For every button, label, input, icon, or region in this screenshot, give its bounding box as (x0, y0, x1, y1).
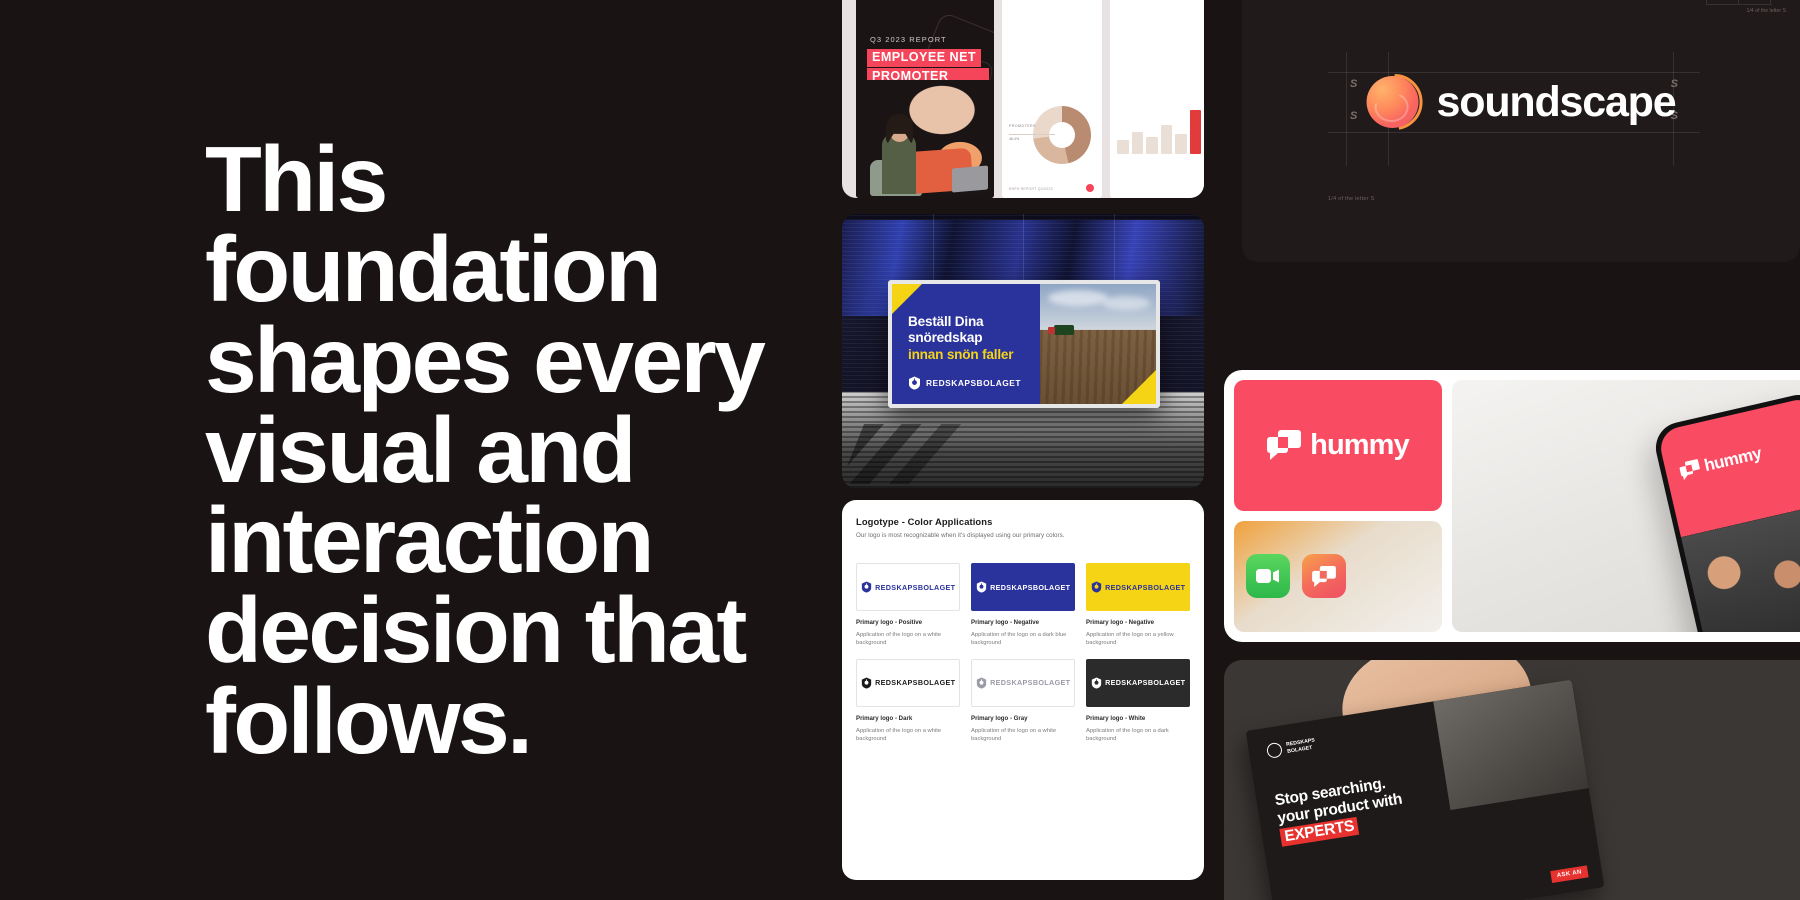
tractor-shape (1054, 325, 1074, 335)
nps-donut-chart: PROMOTERS 46.4% (1009, 106, 1095, 172)
logotype-wordmark: REDSKAPSBOLAGET (1105, 583, 1185, 592)
card-nps-report[interactable]: Q3 2023 REPORT EMPLOYEE NET PROMOTER SCO… (842, 0, 1204, 198)
redskapsbolaget-logo: REDSKAPSBOLAGET (1091, 581, 1186, 593)
hummy-chat-icon (1267, 430, 1301, 460)
gallery-column-center: Q3 2023 REPORT EMPLOYEE NET PROMOTER SCO… (842, 0, 1204, 900)
shield-icon (976, 677, 987, 689)
page-marker-dot (1086, 184, 1094, 192)
soundscape-box-caption: 1/4 of the letter S (1746, 8, 1786, 14)
logotype-name: Primary logo - Positive (856, 619, 960, 626)
hummy-app-icon-row (1234, 521, 1442, 632)
redskapsbolaget-logo: REDSKAPSBOLAGET (861, 677, 956, 689)
logotype-name: Primary logo - Negative (971, 619, 1075, 626)
logotype-swatch: REDSKAPSBOLAGET (971, 563, 1075, 611)
page-title: This foundation shapes every visual and … (205, 134, 815, 765)
donut-ring (1033, 106, 1091, 164)
hummy-wordmark: hummy (1310, 429, 1409, 462)
flyer-brand: REDSKAPS BOLAGET (1286, 737, 1317, 755)
billboard-headline-2: snöredskap (908, 330, 1040, 346)
logotype-wordmark: REDSKAPSBOLAGET (875, 583, 955, 592)
shield-icon (1091, 677, 1102, 689)
logotype-swatch: REDSKAPSBOLAGET (856, 563, 960, 611)
flyer-photo (1433, 679, 1588, 810)
nps-detail-page (1110, 0, 1204, 198)
logotype-description: Application of the logo on a dark backgr… (1086, 727, 1190, 744)
redskapsbolaget-logo: REDSKAPSBOLAGET (1091, 677, 1186, 689)
phone-wordmark: hummy (1702, 444, 1763, 477)
billboard-text-panel: Beställ Dina snöredskap innan snön falle… (892, 284, 1040, 404)
shield-icon (908, 376, 921, 390)
hummy-icon[interactable] (1302, 554, 1346, 598)
card-logotype-applications[interactable]: Logotype - Color Applications Our logo i… (842, 500, 1204, 880)
billboard-frame: Beställ Dina snöredskap innan snön falle… (888, 280, 1160, 408)
cloud-shape (1102, 296, 1150, 310)
logotype-description: Application of the logo on a white backg… (856, 727, 960, 744)
headline-section: This foundation shapes every visual and … (0, 0, 840, 900)
shield-icon (1091, 581, 1102, 593)
billboard-artwork: Beställ Dina snöredskap innan snön falle… (892, 284, 1156, 404)
redskapsbolaget-logo: REDSKAPSBOLAGET (976, 677, 1071, 689)
shield-icon (976, 581, 987, 593)
nps-title-line-1: EMPLOYEE NET (867, 49, 981, 67)
billboard-logo: REDSKAPSBOLAGET (908, 376, 1021, 390)
billboard-photo-panel (1040, 284, 1156, 404)
guide-letter-s: S (1350, 78, 1357, 90)
facetime-icon[interactable] (1246, 554, 1290, 598)
logotype-name: Primary logo - White (1086, 715, 1190, 722)
logotype-cell[interactable]: REDSKAPSBOLAGETPrimary logo - DarkApplic… (856, 659, 960, 744)
logotype-swatch: REDSKAPSBOLAGET (856, 659, 960, 707)
logotype-swatch: REDSKAPSBOLAGET (1086, 563, 1190, 611)
gallery-column-right: S S S S S S 1/4 of the letter S soundsca… (1224, 0, 1800, 900)
logotype-description: Application of the logo on a dark blue b… (971, 631, 1075, 648)
redskapsbolaget-logo: REDSKAPSBOLAGET (976, 581, 1071, 593)
card-flyer-mockup[interactable]: REDSKAPS BOLAGET Stop searching. your pr… (1224, 660, 1800, 900)
nps-kicker: Q3 2023 REPORT (870, 35, 947, 44)
donut-leader-line (1009, 134, 1055, 135)
soundscape-wordmark: soundscape (1437, 78, 1676, 127)
soundscape-grid-caption: 1/4 of the letter S (1328, 196, 1374, 202)
billboard-headline-3: innan snön faller (908, 347, 1040, 363)
laptop-shape (952, 165, 988, 192)
flyer-artwork: REDSKAPS BOLAGET Stop searching. your pr… (1246, 679, 1605, 900)
billboard-brand: REDSKAPSBOLAGET (926, 378, 1021, 388)
card-soundscape-logo[interactable]: S S S S S S 1/4 of the letter S soundsca… (1242, 0, 1800, 262)
logotype-title: Logotype - Color Applications (856, 516, 1190, 527)
nps-bar-chart (1117, 108, 1201, 168)
logotype-swatch: REDSKAPSBOLAGET (1086, 659, 1190, 707)
logotype-name: Primary logo - Dark (856, 715, 960, 722)
nps-definitions-page: Promoters: Passive or Neutral: Detractor… (1002, 0, 1102, 198)
cloud-shape (1048, 290, 1108, 306)
flyer-badge: ASK AN (1550, 865, 1589, 883)
logotype-wordmark: REDSKAPSBOLAGET (1105, 678, 1185, 687)
construction-guides: S S S S S (1242, 0, 1800, 262)
logotype-swatch: REDSKAPSBOLAGET (971, 659, 1075, 707)
card-billboard-mockup[interactable]: Beställ Dina snöredskap innan snön falle… (842, 214, 1204, 488)
logotype-description: Application of the logo on a white backg… (856, 631, 960, 648)
hummy-phone-mockup: hummy (1452, 380, 1800, 632)
logotype-cell[interactable]: REDSKAPSBOLAGETPrimary logo - PositiveAp… (856, 563, 960, 648)
shield-icon (861, 677, 872, 689)
yellow-corner-accent (1122, 370, 1156, 404)
phone-screen: hummy (1657, 396, 1800, 632)
nps-cover-page: Q3 2023 REPORT EMPLOYEE NET PROMOTER SCO… (856, 0, 994, 198)
yellow-corner-accent (892, 284, 922, 314)
logotype-wordmark: REDSKAPSBOLAGET (875, 678, 955, 687)
logotype-description: Application of the logo on a white backg… (971, 727, 1075, 744)
soundscape-logo-icon (1367, 74, 1423, 130)
logotype-subtitle: Our logo is most recognizable when it's … (856, 532, 1190, 539)
circle-mark-icon (1266, 742, 1283, 759)
cast-shadow (842, 424, 1114, 484)
logotype-cell[interactable]: REDSKAPSBOLAGETPrimary logo - WhiteAppli… (1086, 659, 1190, 744)
redskapsbolaget-logo: REDSKAPSBOLAGET (861, 581, 956, 593)
donut-value: 46.4% (1009, 137, 1019, 141)
hummy-left-column: hummy (1234, 380, 1442, 632)
logotype-cell[interactable]: REDSKAPSBOLAGETPrimary logo - NegativeAp… (1086, 563, 1190, 648)
logotype-wordmark: REDSKAPSBOLAGET (990, 678, 1070, 687)
logotype-cell[interactable]: REDSKAPSBOLAGETPrimary logo - GrayApplic… (971, 659, 1075, 744)
soundscape-lockup: soundscape (1367, 74, 1676, 130)
guide-letter-s: S (1350, 110, 1357, 122)
logotype-cell[interactable]: REDSKAPSBOLAGETPrimary logo - NegativeAp… (971, 563, 1075, 648)
nps-cover-photo (856, 80, 994, 198)
phone-device: hummy (1651, 390, 1800, 632)
nps-sheet-row: Q3 2023 REPORT EMPLOYEE NET PROMOTER SCO… (842, 0, 1204, 198)
shield-icon (861, 581, 872, 593)
hummy-logo-tile: hummy (1234, 380, 1442, 511)
donut-label: PROMOTERS (1009, 124, 1036, 128)
phone-hummy-lockup: hummy (1678, 444, 1763, 482)
logotype-wordmark: REDSKAPSBOLAGET (990, 583, 1070, 592)
logotype-grid: REDSKAPSBOLAGETPrimary logo - PositiveAp… (856, 563, 1190, 744)
bar-row (1117, 108, 1201, 154)
phone-photo-content (1681, 501, 1800, 632)
logotype-name: Primary logo - Gray (971, 715, 1075, 722)
card-hummy-brand[interactable]: hummy (1224, 370, 1800, 642)
nps-footer: ENPS REPORT Q3/2023 (1009, 187, 1053, 191)
logotype-description: Application of the logo on a yellow back… (1086, 631, 1190, 648)
soundscape-grid-detail: S (1706, 0, 1772, 4)
logotype-name: Primary logo - Negative (1086, 619, 1190, 626)
billboard-headline-1: Beställ Dina (908, 314, 1040, 330)
